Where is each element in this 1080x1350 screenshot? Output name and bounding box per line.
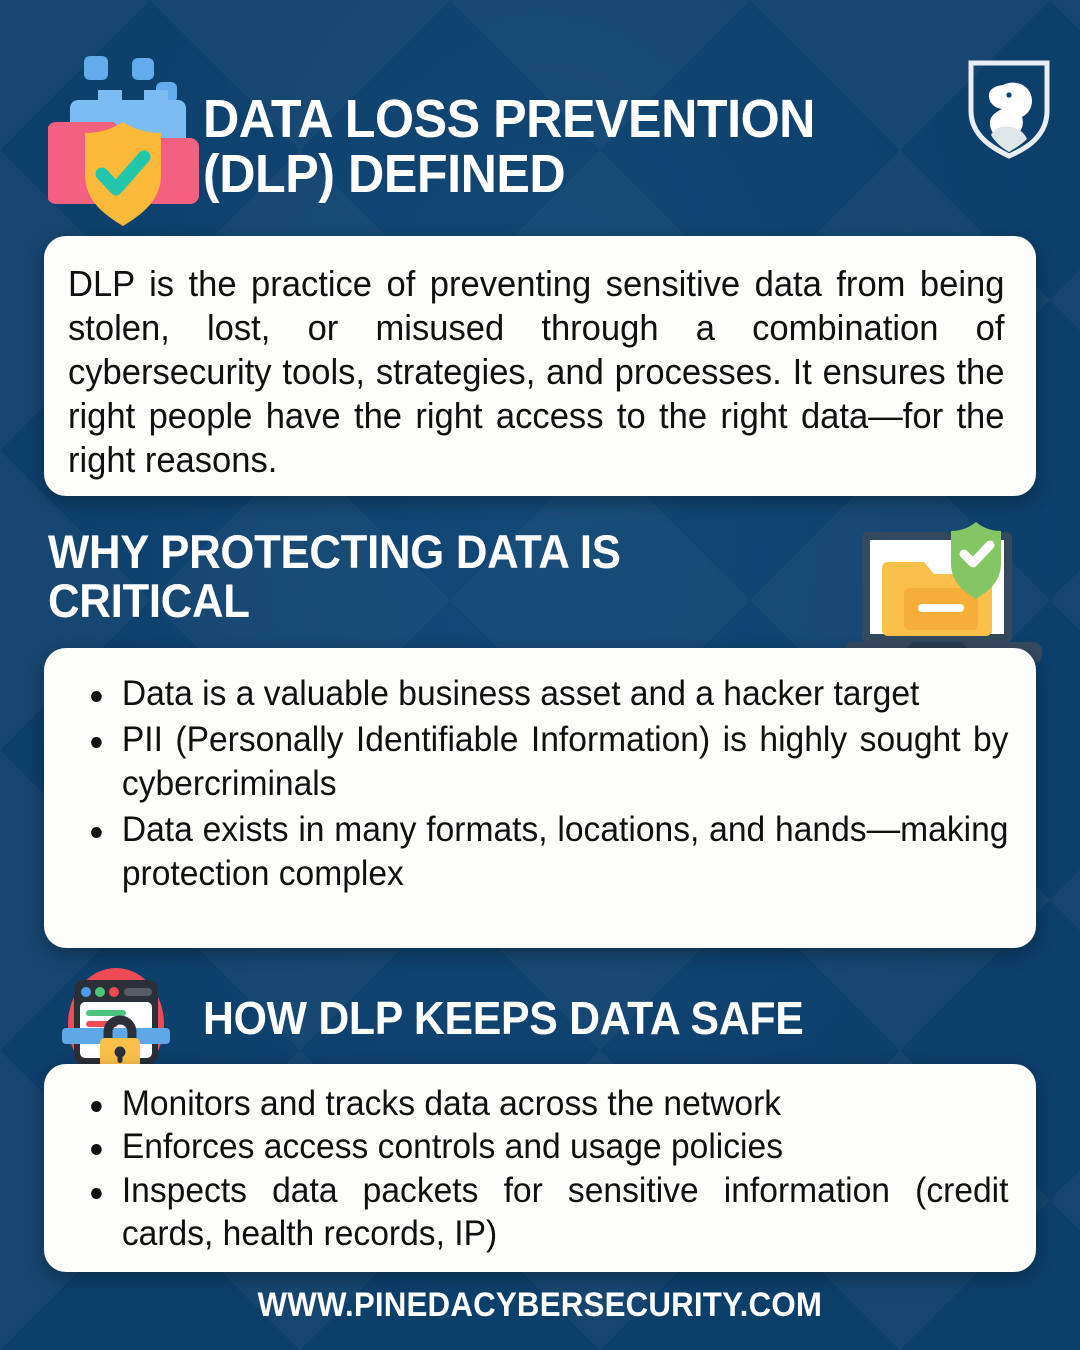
list-item: Inspects data packets for sensitive info… bbox=[70, 1169, 1008, 1256]
infographic-page: DATA LOSS PREVENTION (DLP) DEFINED DLP i… bbox=[0, 0, 1080, 1350]
definition-text: DLP is the practice of preventing sensit… bbox=[68, 262, 1004, 482]
list-item: Data is a valuable business asset and a … bbox=[70, 672, 1008, 716]
why-section-card: Data is a valuable business asset and a … bbox=[44, 648, 1036, 948]
how-section-heading: HOW DLP KEEPS DATA SAFE bbox=[203, 995, 910, 1043]
folder-shield-check-icon bbox=[48, 52, 208, 227]
how-section-card: Monitors and tracks data across the netw… bbox=[44, 1064, 1036, 1272]
list-item: Data exists in many formats, locations, … bbox=[70, 808, 1008, 896]
list-item: Enforces access controls and usage polic… bbox=[70, 1125, 1008, 1168]
list-item: Monitors and tracks data across the netw… bbox=[70, 1082, 1008, 1125]
how-bullet-list: Monitors and tracks data across the netw… bbox=[70, 1082, 1010, 1256]
footer-website-text: WWW.PINEDACYBERSECURITY.COM bbox=[258, 1286, 823, 1325]
page-title: DATA LOSS PREVENTION (DLP) DEFINED bbox=[203, 92, 854, 202]
list-item: PII (Personally Identifiable Information… bbox=[70, 718, 1008, 806]
footer-website[interactable]: WWW.PINEDACYBERSECURITY.COM bbox=[0, 1286, 1080, 1325]
header: DATA LOSS PREVENTION (DLP) DEFINED bbox=[0, 0, 1080, 230]
why-bullet-list: Data is a valuable business asset and a … bbox=[70, 672, 1010, 896]
why-section-heading: WHY PROTECTING DATA IS CRITICAL bbox=[48, 528, 755, 626]
shield-eagle-logo-icon bbox=[963, 55, 1055, 160]
definition-card: DLP is the practice of preventing sensit… bbox=[44, 236, 1036, 496]
